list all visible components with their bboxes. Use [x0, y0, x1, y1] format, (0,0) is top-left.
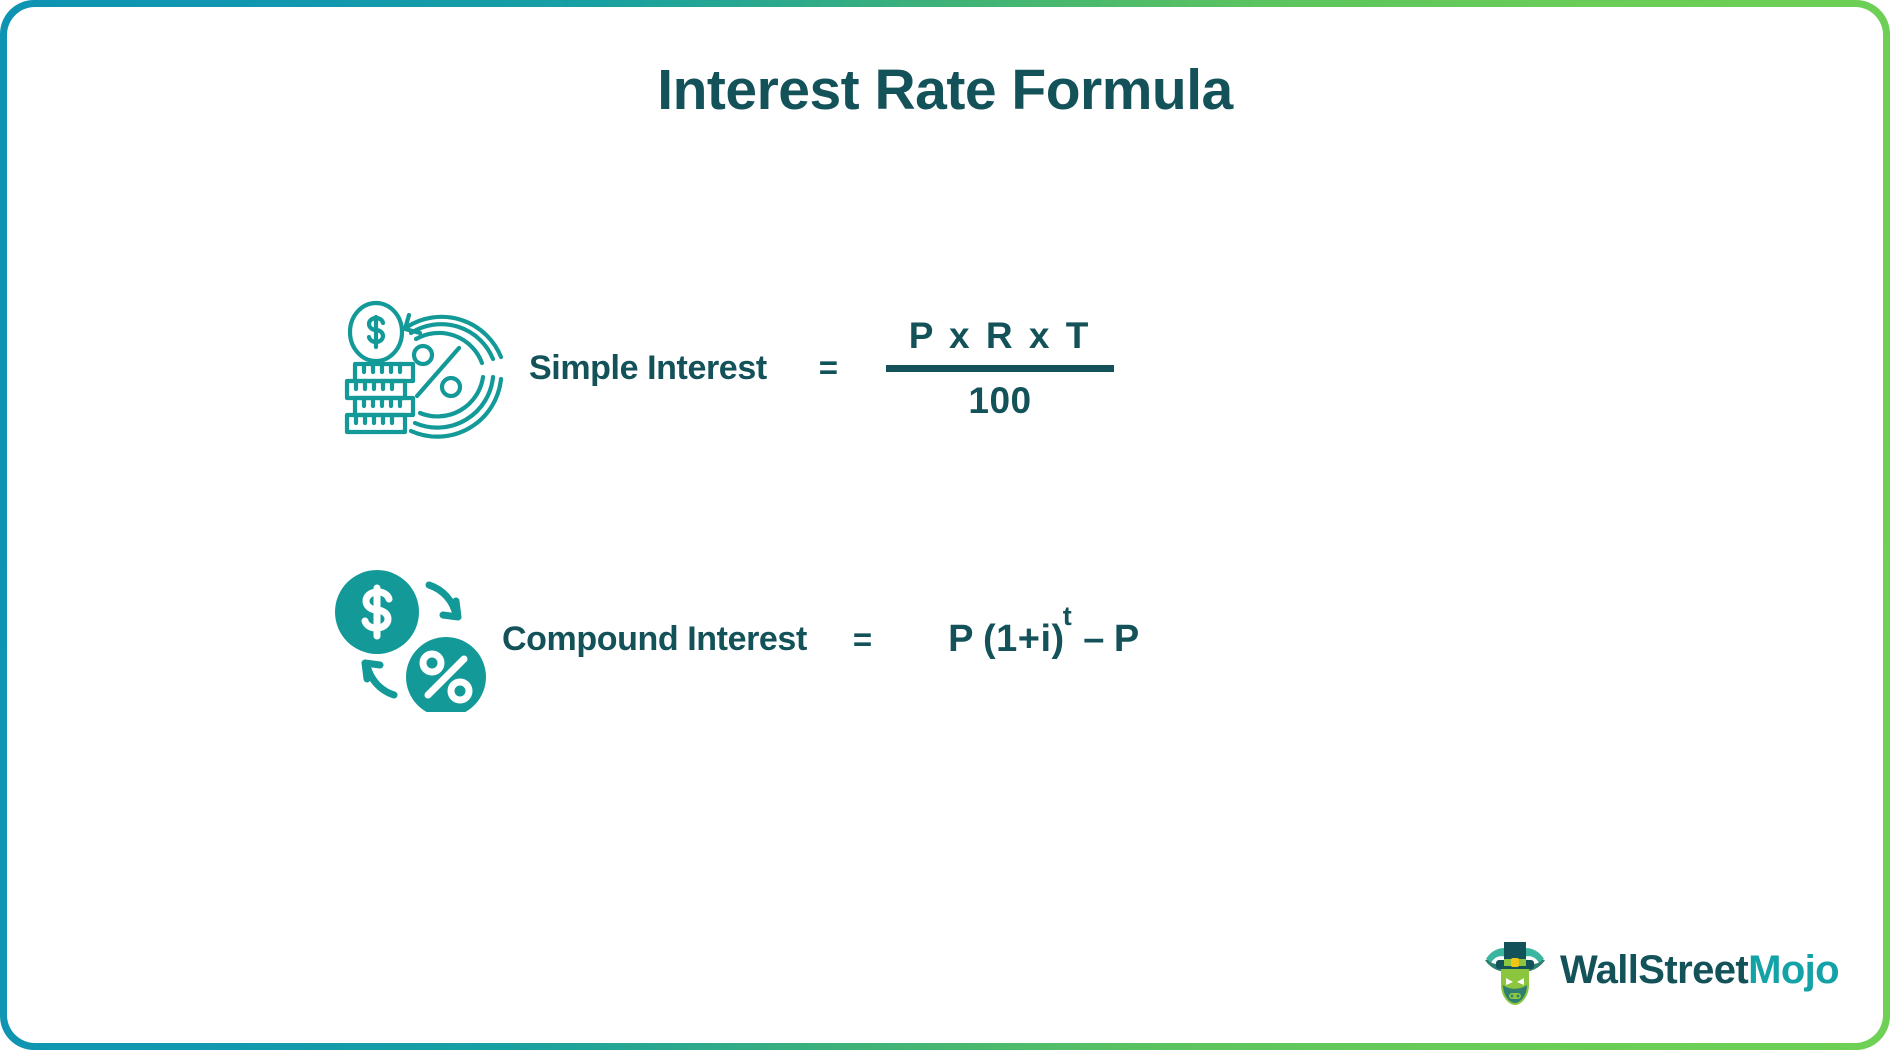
brand-name-part-2: Mojo [1748, 948, 1839, 992]
card-inner-surface: Interest Rate Formula [7, 7, 1883, 1043]
compound-tail: P [1114, 618, 1140, 661]
bull-top-hat-logo-icon [1478, 933, 1552, 1007]
equals-sign-simple-interest: = [819, 349, 838, 387]
brand-wordmark: WallStreetMojo [1560, 948, 1839, 993]
equals-sign-compound-interest: = [853, 621, 872, 659]
dollar-percent-exchange-icon [332, 567, 492, 712]
formula-row-compound-interest: Compound Interest = P (1+i) t – P [332, 567, 1140, 712]
coins-percent-icon [337, 293, 507, 443]
fraction-denominator: 100 [968, 372, 1031, 422]
compound-operator: – [1083, 618, 1105, 661]
brand-name-part-1: WallStreet [1560, 948, 1748, 992]
formula-label-compound-interest: Compound Interest [502, 620, 807, 659]
compound-interest-expression: P (1+i) t – P [948, 618, 1140, 661]
fraction-simple-interest: P x R x T 100 [886, 315, 1114, 422]
formula-label-simple-interest: Simple Interest [529, 349, 767, 388]
compound-group: (1+i) [983, 618, 1065, 661]
page-title: Interest Rate Formula [7, 57, 1883, 123]
fraction-numerator: P x R x T [899, 315, 1102, 365]
compound-base: P [948, 618, 974, 661]
infographic-card: Interest Rate Formula [0, 0, 1890, 1050]
brand-logo: WallStreetMojo [1478, 933, 1839, 1007]
formula-row-simple-interest: Simple Interest = P x R x T 100 [337, 293, 1114, 443]
fraction-bar [886, 365, 1114, 372]
compound-exponent: t [1063, 601, 1073, 632]
